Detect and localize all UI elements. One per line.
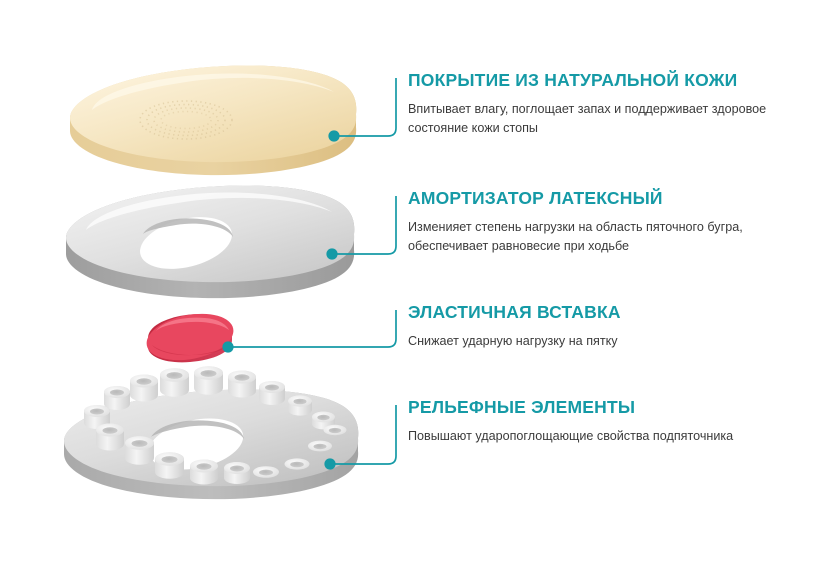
connector-line-1 [334, 78, 396, 136]
connector-dot-4 [324, 458, 335, 469]
callout-title-elastic-insert: ЭЛАСТИЧНАЯ ВСТАВКА [408, 302, 768, 323]
connector-line-2 [332, 196, 396, 254]
callout-title-leather-cover: ПОКРЫТИЕ ИЗ НАТУРАЛЬНОЙ КОЖИ [408, 70, 768, 91]
connector-dot-1 [328, 130, 339, 141]
callout-body-elastic-insert: Снижает ударную нагрузку на пятку [408, 332, 768, 351]
connector-dot-2 [326, 248, 337, 259]
connector-line-3 [228, 310, 396, 347]
callout-relief-elements: РЕЛЬЕФНЫЕ ЭЛЕМЕНТЫ Повышают ударопоглоща… [408, 397, 768, 446]
insole-exploded-diagram: ПОКРЫТИЕ ИЗ НАТУРАЛЬНОЙ КОЖИ Впитывает в… [0, 0, 816, 564]
callout-title-latex-shock-absorber: АМОРТИЗАТОР ЛАТЕКСНЫЙ [408, 188, 768, 209]
connector-dot-3 [222, 341, 233, 352]
callout-body-latex-shock-absorber: Изменияет степень нагрузки на область пя… [408, 218, 768, 256]
callout-latex-shock-absorber: АМОРТИЗАТОР ЛАТЕКСНЫЙ Изменияет степень … [408, 188, 768, 256]
callout-title-relief-elements: РЕЛЬЕФНЫЕ ЭЛЕМЕНТЫ [408, 397, 768, 418]
callout-elastic-insert: ЭЛАСТИЧНАЯ ВСТАВКА Снижает ударную нагру… [408, 302, 768, 351]
callout-leather-cover: ПОКРЫТИЕ ИЗ НАТУРАЛЬНОЙ КОЖИ Впитывает в… [408, 70, 768, 138]
callout-body-leather-cover: Впитывает влагу, поглощает запах и подде… [408, 100, 768, 138]
callout-body-relief-elements: Повышают ударопоглощающие свойства подпя… [408, 427, 768, 446]
connector-line-4 [330, 405, 396, 464]
